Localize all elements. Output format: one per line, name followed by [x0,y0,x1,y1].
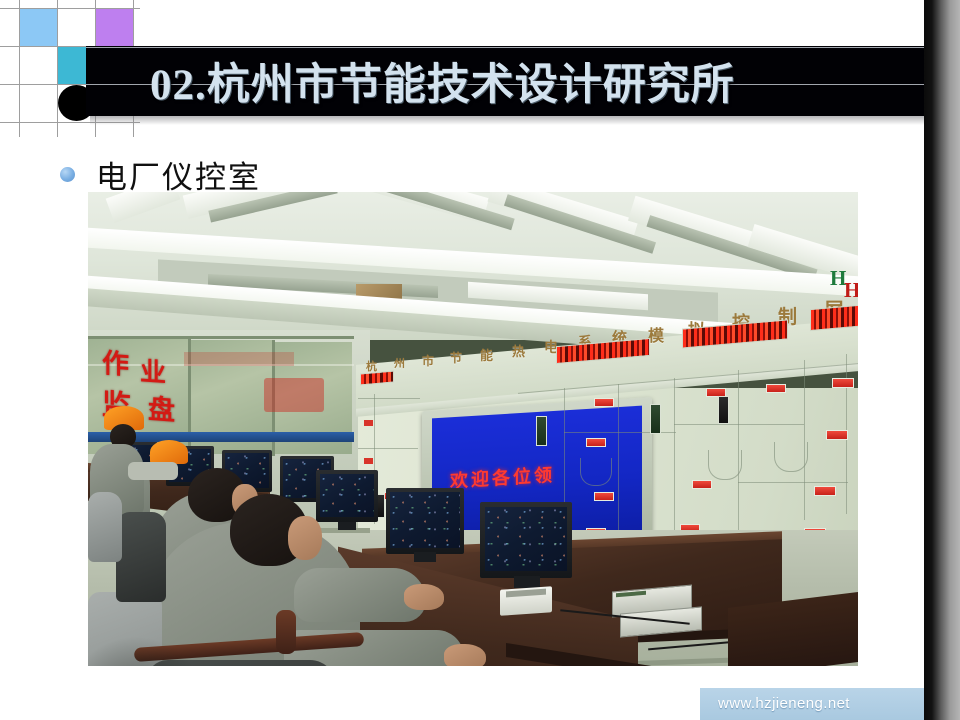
panel-tag [826,430,848,440]
panel-header-char: 市 [422,352,434,369]
panel-switch [536,416,547,446]
panel-coil-symbol [708,450,742,480]
panel-coil-symbol [774,442,808,472]
panel-tag [364,458,373,464]
monitor [316,470,378,522]
panel-schematic-line [564,388,565,518]
title-hairline-top [86,47,938,48]
slide-canvas: 02.杭州市节能技术设计研究所 电厂仪控室 作 [0,0,960,720]
wall-sign-char: 作 [102,341,129,382]
panel-tag [766,384,786,393]
bullet-dot-icon [60,167,75,182]
light-blue-square [20,9,57,46]
panel-schematic-line [738,482,848,483]
wall-sign-glow [184,352,294,366]
chair-armrest-post [276,610,296,654]
panel-schematic-line [674,378,675,538]
right-edge-strip [924,0,960,720]
panel-header-char: 州 [394,355,405,371]
hard-hat-icon [150,440,188,464]
control-room-photo: 作 业 监 盘 杭 州 市 节 能 热 电 系 统 模 拟 控 制 屏 H H [88,192,858,666]
monitor-stand [514,576,540,588]
page-title: 02.杭州市节能技术设计研究所 [150,50,735,112]
bullet-row: 电厂仪控室 [60,152,261,197]
operator-face [288,516,322,560]
purple-square [96,9,133,46]
panel-schematic-line [358,398,420,399]
wall-sign-char: 盘 [148,387,175,428]
panel-coil-symbol [580,458,612,486]
panel-schematic-line [674,424,804,425]
panel-tag [364,420,373,426]
monitor [480,502,572,578]
panel-tag [814,486,836,496]
monitor [386,488,464,554]
hh-logo-red: H [844,278,858,303]
panel-schematic-line [618,384,619,534]
panel-schematic-line [804,360,805,520]
panel-header-char: 节 [450,349,462,366]
monitor-stand [338,522,356,530]
panel-switch [718,396,729,424]
panel-tag [832,378,854,388]
window-mullion [88,336,354,339]
operator-hand [444,644,486,666]
panel-header-char: 模 [648,322,664,346]
footer-url: www.hzjieneng.net [718,695,850,712]
panel-tag [594,492,614,501]
panel-tag [692,480,712,489]
floor-shadow [88,636,208,666]
bullet-label: 电厂仪控室 [96,152,261,197]
wall-sign-block [264,378,324,412]
panel-header-char: 能 [480,345,493,364]
office-chair [116,512,166,602]
worker-arm [128,462,178,480]
monitor-stand [414,552,436,562]
operator-hand [404,584,444,610]
panel-header-char: 热 [512,341,525,360]
panel-schematic-line [358,448,418,449]
office-chair [88,492,122,562]
wall-sign-char: 业 [140,351,166,390]
panel-tag [594,398,614,407]
panel-tag [586,438,606,447]
panel-switch [650,404,661,434]
